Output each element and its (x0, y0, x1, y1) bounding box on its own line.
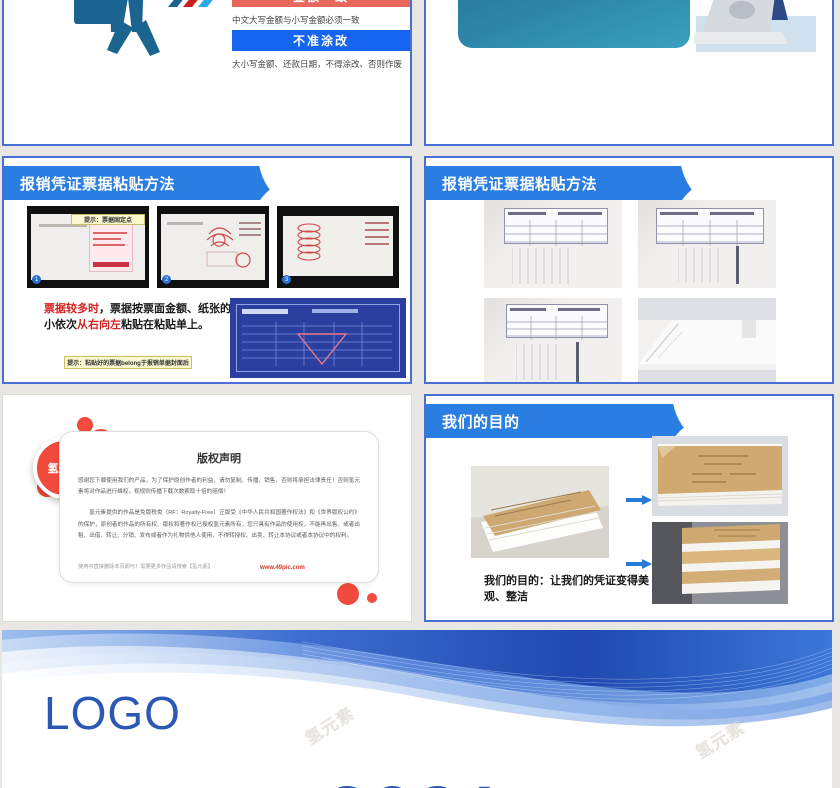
caption-no-alteration: 大小写金额、还款日期，不得涂改、否则作废 (232, 58, 412, 71)
copyright-paragraph: 感谢您下载使用我们的产品，为了保护原创作者的利益，请勿复制、传播、销售，否则将承… (78, 476, 360, 498)
badge-amount-consistent: 金额一致 (232, 0, 410, 7)
photo-receipt-step-2: 2 (157, 206, 269, 288)
photo-tidy-voucher-stack (652, 522, 788, 604)
photo-bank-cheque (230, 298, 406, 378)
copyright-paragraph: 氢元素提供的作品是免版税类（RF：Royalty-Free）正版受《中华人民共和… (78, 508, 360, 542)
slide-title: 报销凭证票据粘贴方法 (20, 173, 175, 194)
slide-paste-method-1[interactable]: 报销凭证票据粘贴方法 提示：票据固定点 1 2 (2, 156, 412, 384)
photo-tidy-voucher-single (652, 436, 788, 516)
copyright-card: 版权声明 感谢您下载使用我们的产品，为了保护原创作者的利益，请勿复制、传播、销售… (59, 431, 379, 583)
highlight-right-to-left: 从右向左 (77, 319, 121, 331)
tip-label: 提示：票据固定点 (71, 214, 145, 225)
caption-amount-consistent: 中文大写金额与小写金额必须一致 (232, 14, 412, 27)
decor-dot (367, 593, 377, 603)
slide-title: 报销凭证票据粘贴方法 (442, 173, 597, 194)
highlight-many-receipts: 票据较多时 (44, 303, 99, 315)
photo-messy-voucher (471, 466, 609, 558)
slide-title-banner: 我们的目的 (426, 404, 718, 438)
cover-logo-text: LOGO (44, 686, 181, 740)
photo-receipt-step-1: 提示：票据固定点 1 (27, 206, 149, 288)
cover-year: 2021 (2, 770, 832, 788)
badge-no-alteration: 不准涂改 (232, 30, 410, 51)
photo-number: 1 (32, 275, 41, 284)
copyright-footer: 使用中直接删除本页即可！需要更多作品请搜索【氢元素】 (78, 563, 213, 570)
brand-url[interactable]: www.49pic.com (260, 565, 305, 571)
photo-number: 2 (162, 275, 171, 284)
slide-title-cover[interactable]: LOGO 2021 氢元素 氢元素 (2, 630, 832, 788)
right-arrow-icon (626, 492, 652, 502)
businessman-briefcase-icon (50, 0, 230, 66)
slide-title: 我们的目的 (442, 411, 520, 432)
paste-order-text: 票据较多时，票据按票面金额、纸张的大小依次从右向左粘贴在粘贴单上。 (44, 302, 244, 334)
photo-number: 3 (282, 275, 291, 284)
businessman-laptop-icon (694, 0, 818, 52)
slide-title-banner: 报销凭证票据粘贴方法 (4, 166, 304, 200)
purpose-caption: 我们的目的：让我们的凭证变得美观、整洁 (484, 574, 664, 606)
right-arrow-icon (626, 556, 652, 566)
photo-voucher-4 (638, 298, 776, 384)
text-part-2: 粘贴在粘贴单上。 (121, 319, 209, 331)
slide-paste-method-2[interactable]: 报销凭证票据粘贴方法 (424, 156, 834, 384)
slide-paste-rules[interactable]: 粘贴单内，不能使用订书机。 交通票据等小票据的粘贴范围以粘贴单大小为界，沿紧粘贴… (424, 0, 834, 146)
photo-voucher-2 (638, 200, 776, 288)
slide-amount-rules[interactable]: 必须手工签字（蓝黑色水笔），不可以使用圆珠笔或铅笔填写 金额一致 中文大写金额与… (2, 0, 412, 146)
tip-label: 提示：粘贴好的票据belong于报销单据封面后 (64, 356, 192, 369)
photo-voucher-3 (484, 298, 622, 384)
copyright-title: 版权声明 (60, 450, 378, 466)
slide-our-purpose[interactable]: 我们的目的 (424, 394, 834, 622)
photo-voucher-1 (484, 200, 622, 288)
paste-rules-panel: 粘贴单内，不能使用订书机。 交通票据等小票据的粘贴范围以粘贴单大小为界，沿紧粘贴… (458, 0, 690, 48)
photo-receipt-step-3: 3 (277, 206, 399, 288)
slide-title-banner: 报销凭证票据粘贴方法 (426, 166, 726, 200)
decor-dot (337, 583, 359, 605)
slide-copyright[interactable]: 氢元素 版权声明 感谢您下载使用我们的产品，为了保护原创作者的利益，请勿复制、传… (2, 394, 412, 622)
